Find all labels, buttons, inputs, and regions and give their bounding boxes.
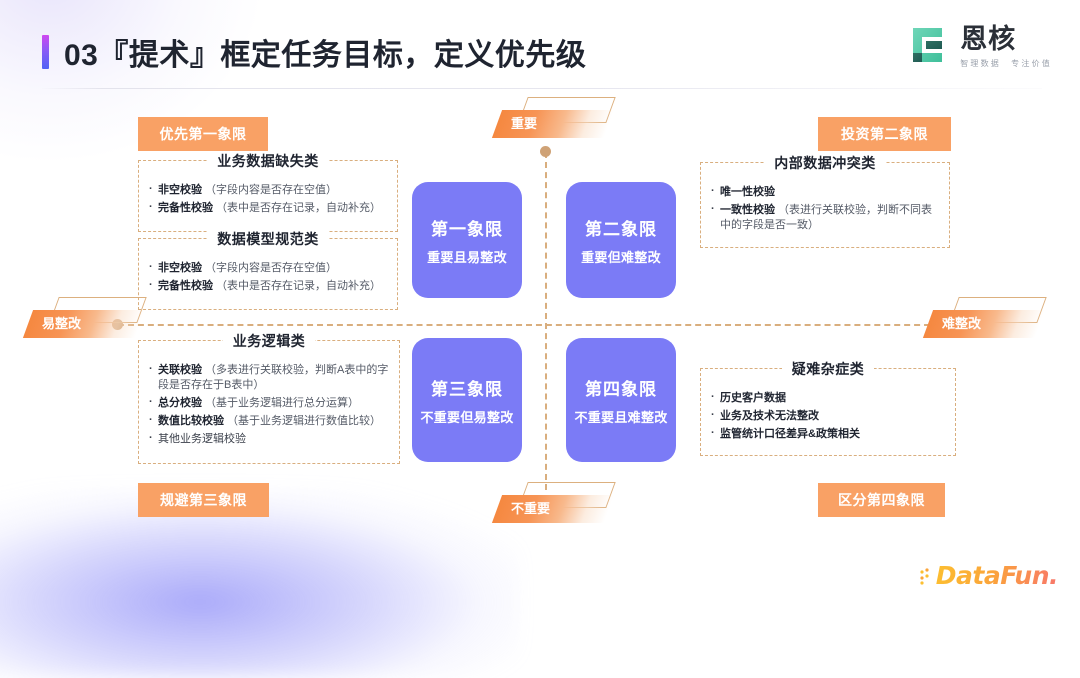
corner-badge-q4: 区分第四象限	[818, 483, 945, 517]
detail-box-business-logic: 业务逻辑类 关联校验 （多表进行关联校验，判断A表中的字段是否存在于B表中）总分…	[138, 340, 400, 464]
detail-item-term: 非空校验	[158, 262, 202, 274]
detail-list-item: 历史客户数据	[711, 391, 945, 406]
detail-item-note: （字段内容是否存在空值）	[202, 262, 337, 274]
detail-list: 非空校验 （字段内容是否存在空值）完备性校验 （表中是否存在记录，自动补充）	[149, 261, 387, 294]
detail-list-item: 一致性校验 （表进行关联校验，判断不同表中的字段是否一致）	[711, 203, 939, 233]
quadrant-card-q4-title: 第四象限	[585, 375, 657, 400]
detail-box-internal-data-conflict: 内部数据冲突类 唯一性校验一致性校验 （表进行关联校验，判断不同表中的字段是否一…	[700, 162, 950, 248]
detail-item-term: 完备性校验	[158, 280, 213, 292]
detail-box-data-model-spec: 数据模型规范类 非空校验 （字段内容是否存在空值）完备性校验 （表中是否存在记录…	[138, 238, 398, 310]
detail-item-term: 非空校验	[158, 184, 202, 196]
quadrant-card-q4[interactable]: 第四象限 不重要且难整改	[566, 338, 676, 462]
detail-list-item: 完备性校验 （表中是否存在记录，自动补充）	[149, 201, 387, 216]
detail-list-item: 总分校验 （基于业务逻辑进行总分运算）	[149, 396, 389, 411]
quadrant-card-q3-title: 第三象限	[431, 375, 503, 400]
quadrant-card-q3-subtitle: 不重要但易整改	[420, 407, 513, 426]
quadrant-card-q2-title: 第二象限	[585, 215, 657, 240]
brand-logo: 恩核 智理数据 专注价值	[908, 22, 1052, 69]
slide-header: 03『提术』框定任务目标，定义优先级 恩核 智理数据 专注价值	[0, 0, 1080, 90]
page-title: 03『提术』框定任务目标，定义优先级	[64, 30, 586, 74]
detail-list: 历史客户数据业务及技术无法整改监管统计口径差异&政策相关	[711, 391, 945, 442]
detail-item-term: 数值比较校验	[158, 415, 224, 427]
detail-list-item: 监管统计口径差异&政策相关	[711, 427, 945, 442]
axis-label-easy-fix: 易整改	[28, 310, 140, 338]
detail-item-term: 监管统计口径差异&政策相关	[720, 428, 860, 440]
detail-item-note: （表中是否存在记录，自动补充）	[213, 202, 381, 214]
header-divider	[42, 88, 1042, 89]
corner-badge-q3: 规避第三象限	[138, 483, 269, 517]
detail-item-term: 完备性校验	[158, 202, 213, 214]
detail-box-heading: 业务逻辑类	[139, 331, 399, 351]
axis-label-important: 重要	[497, 110, 609, 138]
detail-item-term: 历史客户数据	[720, 392, 786, 404]
detail-box-heading: 业务数据缺失类	[139, 151, 397, 171]
detail-item-note: （基于业务逻辑进行数值比较）	[224, 415, 381, 427]
title-accent-bar	[42, 35, 49, 69]
detail-item-note: （基于业务逻辑进行总分运算）	[202, 397, 359, 409]
detail-box-heading: 数据模型规范类	[139, 229, 397, 249]
detail-box-heading-text: 内部数据冲突类	[764, 155, 886, 171]
detail-list-item: 业务及技术无法整改	[711, 409, 945, 424]
detail-box-difficult-cases: 疑难杂症类 历史客户数据业务及技术无法整改监管统计口径差异&政策相关	[700, 368, 956, 456]
detail-list: 关联校验 （多表进行关联校验，判断A表中的字段是否存在于B表中）总分校验 （基于…	[149, 363, 389, 447]
corner-badge-q2: 投资第二象限	[818, 117, 951, 151]
datafun-dots-icon	[919, 566, 935, 586]
detail-box-heading: 疑难杂症类	[701, 359, 955, 379]
detail-list-item: 唯一性校验	[711, 185, 939, 200]
priority-matrix: 重要 不重要 易整改 难整改 优先第一象限 投资第二象限 规避第三象限 区分第四…	[0, 90, 1080, 540]
detail-item-term: 关联校验	[158, 364, 202, 376]
detail-box-heading: 内部数据冲突类	[701, 153, 949, 173]
datafun-logo: DataFun.	[919, 561, 1058, 590]
axis-endpoint-dot-top	[540, 146, 551, 157]
brand-tagline: 智理数据 专注价值	[960, 58, 1052, 69]
detail-item-term: 总分校验	[158, 397, 202, 409]
axis-label-unimportant-text: 不重要	[511, 495, 550, 523]
datafun-wordmark: DataFun.	[936, 561, 1058, 590]
quadrant-card-q2[interactable]: 第二象限 重要但难整改	[566, 182, 676, 298]
axis-label-unimportant: 不重要	[497, 495, 609, 523]
detail-box-heading-text: 业务数据缺失类	[207, 153, 329, 169]
detail-list-item: 其他业务逻辑校验	[149, 432, 389, 447]
quadrant-card-q2-subtitle: 重要但难整改	[581, 247, 661, 266]
detail-list-item: 非空校验 （字段内容是否存在空值）	[149, 261, 387, 276]
detail-item-term: 其他业务逻辑校验	[158, 433, 246, 445]
brand-name: 恩核	[960, 24, 1052, 54]
detail-item-term: 唯一性校验	[720, 186, 775, 198]
quadrant-card-q1-title: 第一象限	[431, 215, 503, 240]
detail-box-heading-text: 数据模型规范类	[207, 231, 329, 247]
detail-item-note: （字段内容是否存在空值）	[202, 184, 337, 196]
axis-label-hard-fix: 难整改	[928, 310, 1040, 338]
quadrant-card-q1-subtitle: 重要且易整改	[427, 247, 507, 266]
detail-list: 唯一性校验一致性校验 （表进行关联校验，判断不同表中的字段是否一致）	[711, 185, 939, 233]
quadrant-card-q3[interactable]: 第三象限 不重要但易整改	[412, 338, 522, 462]
quadrant-card-q4-subtitle: 不重要且难整改	[574, 407, 667, 426]
detail-list-item: 非空校验 （字段内容是否存在空值）	[149, 183, 387, 198]
detail-list-item: 完备性校验 （表中是否存在记录，自动补充）	[149, 279, 387, 294]
axis-label-important-text: 重要	[511, 110, 537, 138]
detail-list-item: 关联校验 （多表进行关联校验，判断A表中的字段是否存在于B表中）	[149, 363, 389, 393]
axis-label-hard-fix-text: 难整改	[942, 310, 981, 338]
axis-horizontal-line	[118, 324, 940, 326]
detail-item-note: （表中是否存在记录，自动补充）	[213, 280, 381, 292]
enhe-e-logo-icon	[908, 22, 952, 68]
axis-label-easy-fix-text: 易整改	[42, 310, 81, 338]
detail-item-term: 一致性校验	[720, 204, 775, 216]
detail-list-item: 数值比较校验 （基于业务逻辑进行数值比较）	[149, 414, 389, 429]
detail-box-heading-text: 业务逻辑类	[223, 333, 316, 349]
detail-list: 非空校验 （字段内容是否存在空值）完备性校验 （表中是否存在记录，自动补充）	[149, 183, 387, 216]
detail-box-business-data-missing: 业务数据缺失类 非空校验 （字段内容是否存在空值）完备性校验 （表中是否存在记录…	[138, 160, 398, 232]
corner-badge-q1: 优先第一象限	[138, 117, 268, 151]
axis-vertical-line	[545, 152, 547, 490]
detail-box-heading-text: 疑难杂症类	[782, 361, 875, 377]
quadrant-card-q1[interactable]: 第一象限 重要且易整改	[412, 182, 522, 298]
detail-item-term: 业务及技术无法整改	[720, 410, 819, 422]
